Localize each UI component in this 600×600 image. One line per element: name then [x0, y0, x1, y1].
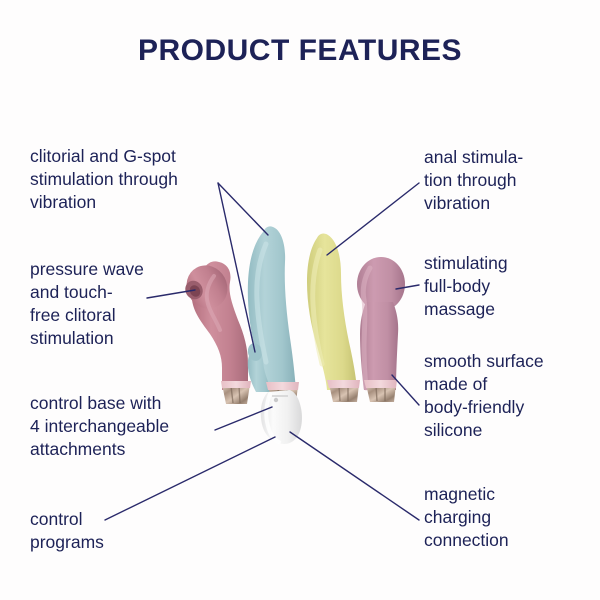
label-line: charging — [424, 506, 594, 529]
label-control-programs: control programs — [30, 508, 180, 554]
label-line: vibration — [30, 191, 235, 214]
label-line: and touch- — [30, 281, 210, 304]
label-line: control base with — [30, 392, 235, 415]
label-smooth-silicone: smooth surface made of body-friendly sil… — [424, 350, 599, 442]
label-line: 4 interchangeable — [30, 415, 235, 438]
label-line: control — [30, 508, 180, 531]
label-stimulating-massage: stimulating full-body massage — [424, 252, 594, 321]
label-pressure-wave-clitoral: pressure wave and touch- free clitoral s… — [30, 258, 210, 350]
label-line: pressure wave — [30, 258, 210, 281]
label-line: body-friendly — [424, 396, 599, 419]
label-line: smooth surface — [424, 350, 599, 373]
label-line: stimulation — [30, 327, 210, 350]
label-line: stimulation through — [30, 168, 235, 191]
label-line: programs — [30, 531, 180, 554]
label-line: free clitoral — [30, 304, 210, 327]
label-magnetic-charging: magnetic charging connection — [424, 483, 594, 552]
label-line: silicone — [424, 419, 599, 442]
label-anal-stimulation: anal stimula- tion through vibration — [424, 146, 594, 215]
leader-line-massage — [396, 285, 419, 289]
label-line: attachments — [30, 438, 235, 461]
label-line: anal stimula- — [424, 146, 594, 169]
label-control-base-attachments: control base with 4 interchangeable atta… — [30, 392, 235, 461]
leader-line-smooth-surface — [392, 375, 419, 405]
label-line: vibration — [424, 192, 594, 215]
label-line: made of — [424, 373, 599, 396]
leader-line-magnetic-charging — [290, 432, 419, 520]
label-line: massage — [424, 298, 594, 321]
label-line: full-body — [424, 275, 594, 298]
label-line: clitorial and G-spot — [30, 145, 235, 168]
leader-line-anal — [327, 183, 419, 255]
label-line: stimulating — [424, 252, 594, 275]
label-clitorial-gspot-stimulation: clitorial and G-spot stimulation through… — [30, 145, 235, 214]
product-features-infographic: PRODUCT FEATURES — [0, 0, 600, 600]
label-line: connection — [424, 529, 594, 552]
label-line: magnetic — [424, 483, 594, 506]
label-line: tion through — [424, 169, 594, 192]
